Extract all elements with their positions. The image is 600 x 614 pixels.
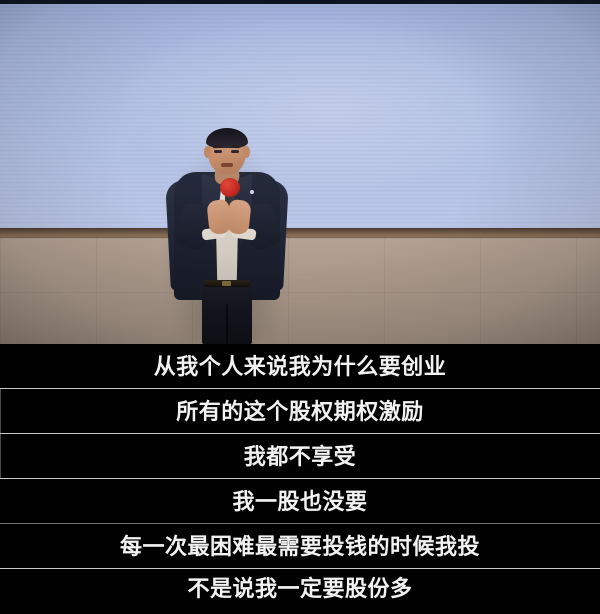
trouser-leg-split [226, 304, 228, 344]
microphone-head-icon [220, 178, 240, 197]
speaker-ear-right [243, 146, 250, 158]
subtitle-line-4: 我一股也没要 [0, 479, 600, 524]
belt-buckle [222, 281, 231, 286]
subtitle-text: 从我个人来说我为什么要创业 [154, 356, 447, 378]
subtitle-text: 每一次最困难最需要投钱的时候我投 [120, 536, 480, 558]
subtitle-stack: 从我个人来说我为什么要创业 所有的这个股权期权激励 我都不享受 我一股也没要 每… [0, 344, 600, 614]
subtitle-text: 所有的这个股权期权激励 [176, 401, 424, 423]
subtitle-text: 不是说我一定要股份多 [187, 578, 412, 600]
subtitle-line-2: 所有的这个股权期权激励 [0, 389, 600, 434]
projection-screen-background [0, 0, 600, 230]
speaker-figure [158, 128, 294, 344]
subtitle-line-3: 我都不享受 [0, 434, 600, 479]
video-frame[interactable] [0, 0, 600, 344]
speaker-eye-left [214, 150, 222, 153]
subtitle-line-6: 不是说我一定要股份多 [0, 569, 600, 608]
speaker-ear-left [204, 146, 211, 158]
subtitle-left-edge [0, 434, 1, 479]
lower-wall-panels [0, 238, 600, 344]
subtitle-text: 我都不享受 [244, 446, 357, 468]
letterbox-top-bar [0, 0, 600, 4]
speaker-eye-right [231, 150, 239, 153]
lapel-pin-icon [250, 190, 254, 194]
subtitle-left-edge [0, 389, 1, 434]
wall-trim-band [0, 228, 600, 238]
screenshot-root: 从我个人来说我为什么要创业 所有的这个股权期权激励 我都不享受 我一股也没要 每… [0, 0, 600, 614]
subtitle-line-5: 每一次最困难最需要投钱的时候我投 [0, 524, 600, 569]
subtitle-text: 我一股也没要 [232, 491, 367, 513]
speaker-mouth [221, 163, 233, 167]
subtitle-line-1: 从我个人来说我为什么要创业 [0, 344, 600, 389]
